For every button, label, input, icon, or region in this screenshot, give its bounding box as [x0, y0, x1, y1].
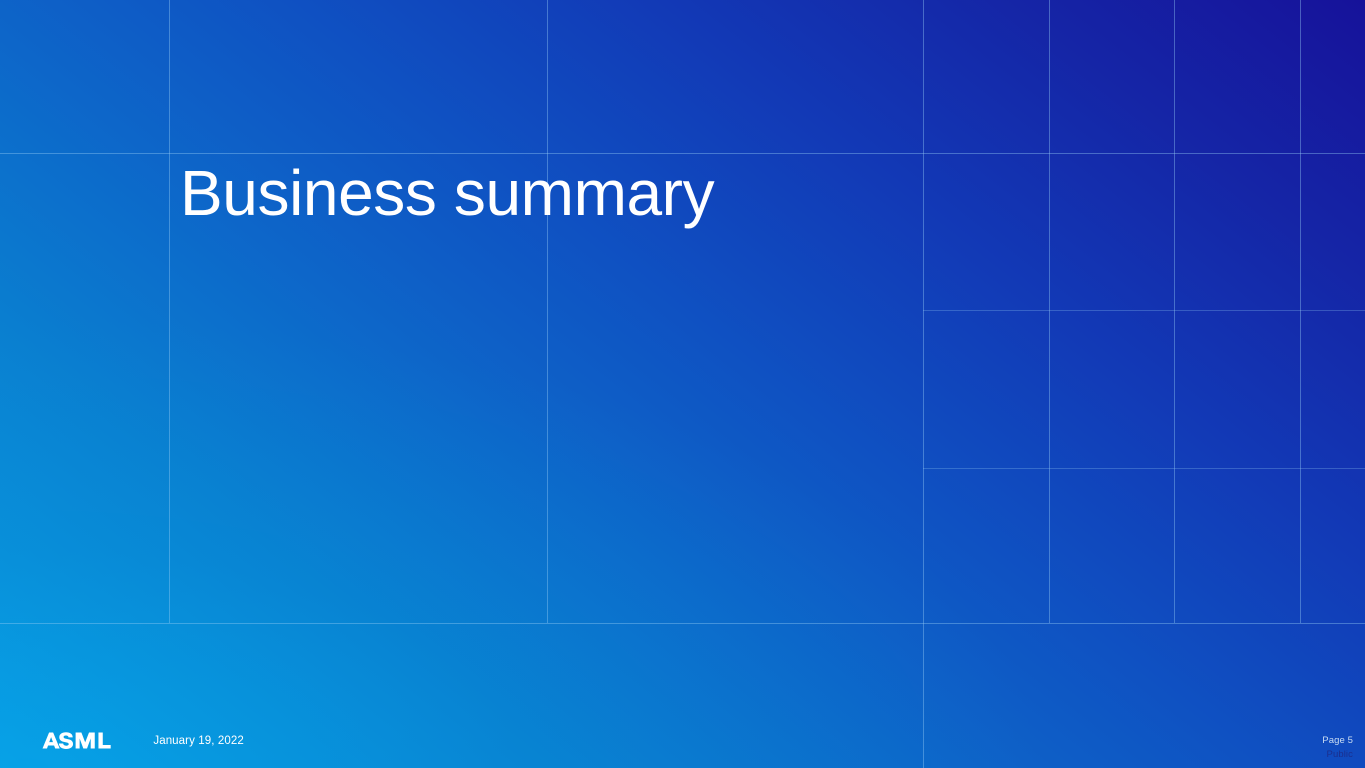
background-sheen [0, 0, 1365, 768]
background-grid [0, 0, 1365, 768]
grid-hline-2 [923, 310, 1365, 311]
grid-vline-4 [1049, 0, 1050, 623]
grid-vline-2 [547, 0, 548, 623]
grid-hline-1 [0, 153, 1365, 154]
grid-vline-6 [1300, 0, 1301, 623]
grid-vline-1 [169, 0, 170, 623]
asml-logo [42, 731, 133, 750]
page-number: Page 5 [1322, 734, 1353, 749]
footer-date: January 19, 2022 [153, 735, 243, 747]
classification-label: Public [1322, 748, 1353, 763]
footer-right: Page 5 Public [1322, 734, 1353, 763]
grid-hline-4 [0, 623, 1365, 624]
grid-vline-3 [923, 0, 924, 768]
grid-hline-3 [923, 468, 1365, 469]
grid-vline-5 [1174, 0, 1175, 623]
page-title: Business summary [180, 161, 714, 225]
presentation-slide: Business summary January 19, 2022 Page 5… [0, 0, 1365, 768]
footer-left: January 19, 2022 [42, 731, 244, 750]
